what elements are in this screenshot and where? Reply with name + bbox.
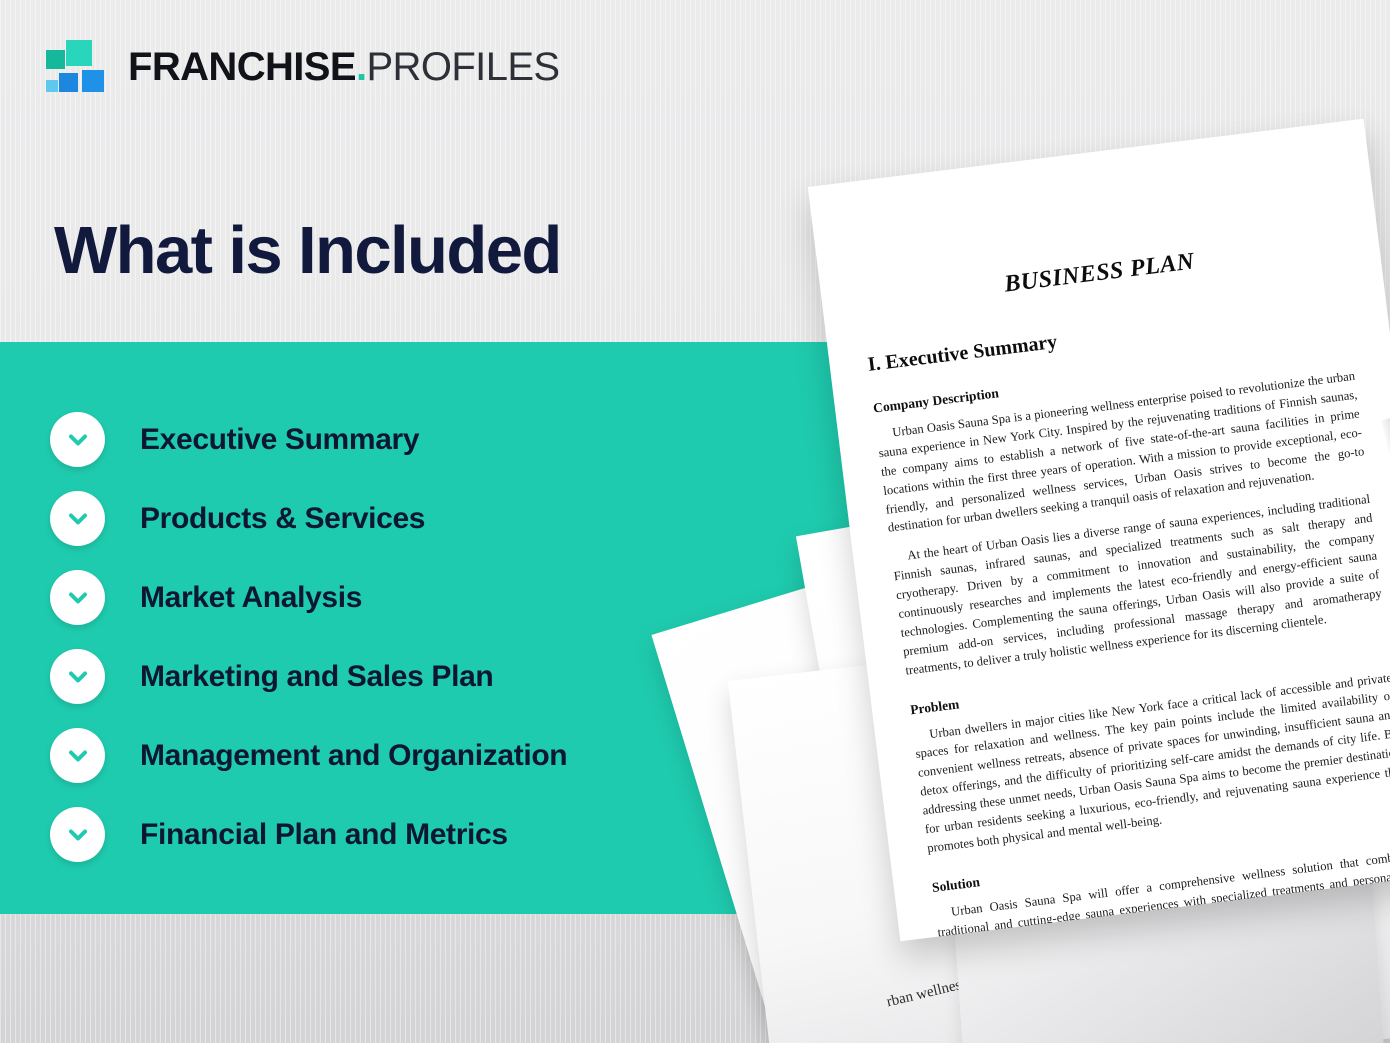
list-item-label: Management and Organization — [140, 739, 567, 773]
list-item-label: Executive Summary — [140, 423, 419, 457]
chevron-down-icon — [50, 491, 105, 546]
page-title: What is Included — [54, 215, 561, 286]
chevron-down-icon — [50, 412, 105, 467]
brand-wordmark: FRANCHISE . PROFILES — [128, 47, 560, 87]
business-plan-page[interactable]: BUSINESS PLAN I. Executive Summary Compa… — [808, 119, 1390, 942]
brand-name-bold: FRANCHISE — [128, 47, 356, 87]
list-item-label: Market Analysis — [140, 581, 362, 615]
chevron-down-icon — [50, 728, 105, 783]
logo-square-2 — [46, 50, 65, 69]
list-item-label: Products & Services — [140, 502, 425, 536]
logo-square-1 — [66, 40, 92, 66]
logo-square-3 — [82, 70, 104, 92]
list-item[interactable]: Executive Summary — [50, 400, 750, 479]
logo-square-4 — [59, 73, 78, 92]
list-item[interactable]: Management and Organization — [50, 716, 750, 795]
logo-square-5 — [46, 80, 58, 92]
list-item[interactable]: Products & Services — [50, 479, 750, 558]
list-item-label: Financial Plan and Metrics — [140, 818, 508, 852]
document-stack: rban wellness exceptional demands of cit… — [660, 120, 1390, 1043]
slide-canvas: FRANCHISE . PROFILES What is Included Ex… — [0, 0, 1390, 1043]
included-sections-list: Executive Summary Products & Services Ma… — [50, 400, 750, 874]
chevron-down-icon — [50, 570, 105, 625]
logo-mark-squares-icon — [46, 40, 108, 94]
brand-name-light: PROFILES — [366, 47, 559, 87]
chevron-down-icon — [50, 649, 105, 704]
chevron-down-icon — [50, 807, 105, 862]
list-item[interactable]: Marketing and Sales Plan — [50, 637, 750, 716]
document-title: BUSINESS PLAN — [859, 231, 1341, 317]
brand-name-dot: . — [356, 47, 367, 87]
list-item[interactable]: Financial Plan and Metrics — [50, 795, 750, 874]
list-item[interactable]: Market Analysis — [50, 558, 750, 637]
list-item-label: Marketing and Sales Plan — [140, 660, 493, 694]
brand-logo[interactable]: FRANCHISE . PROFILES — [46, 40, 560, 94]
